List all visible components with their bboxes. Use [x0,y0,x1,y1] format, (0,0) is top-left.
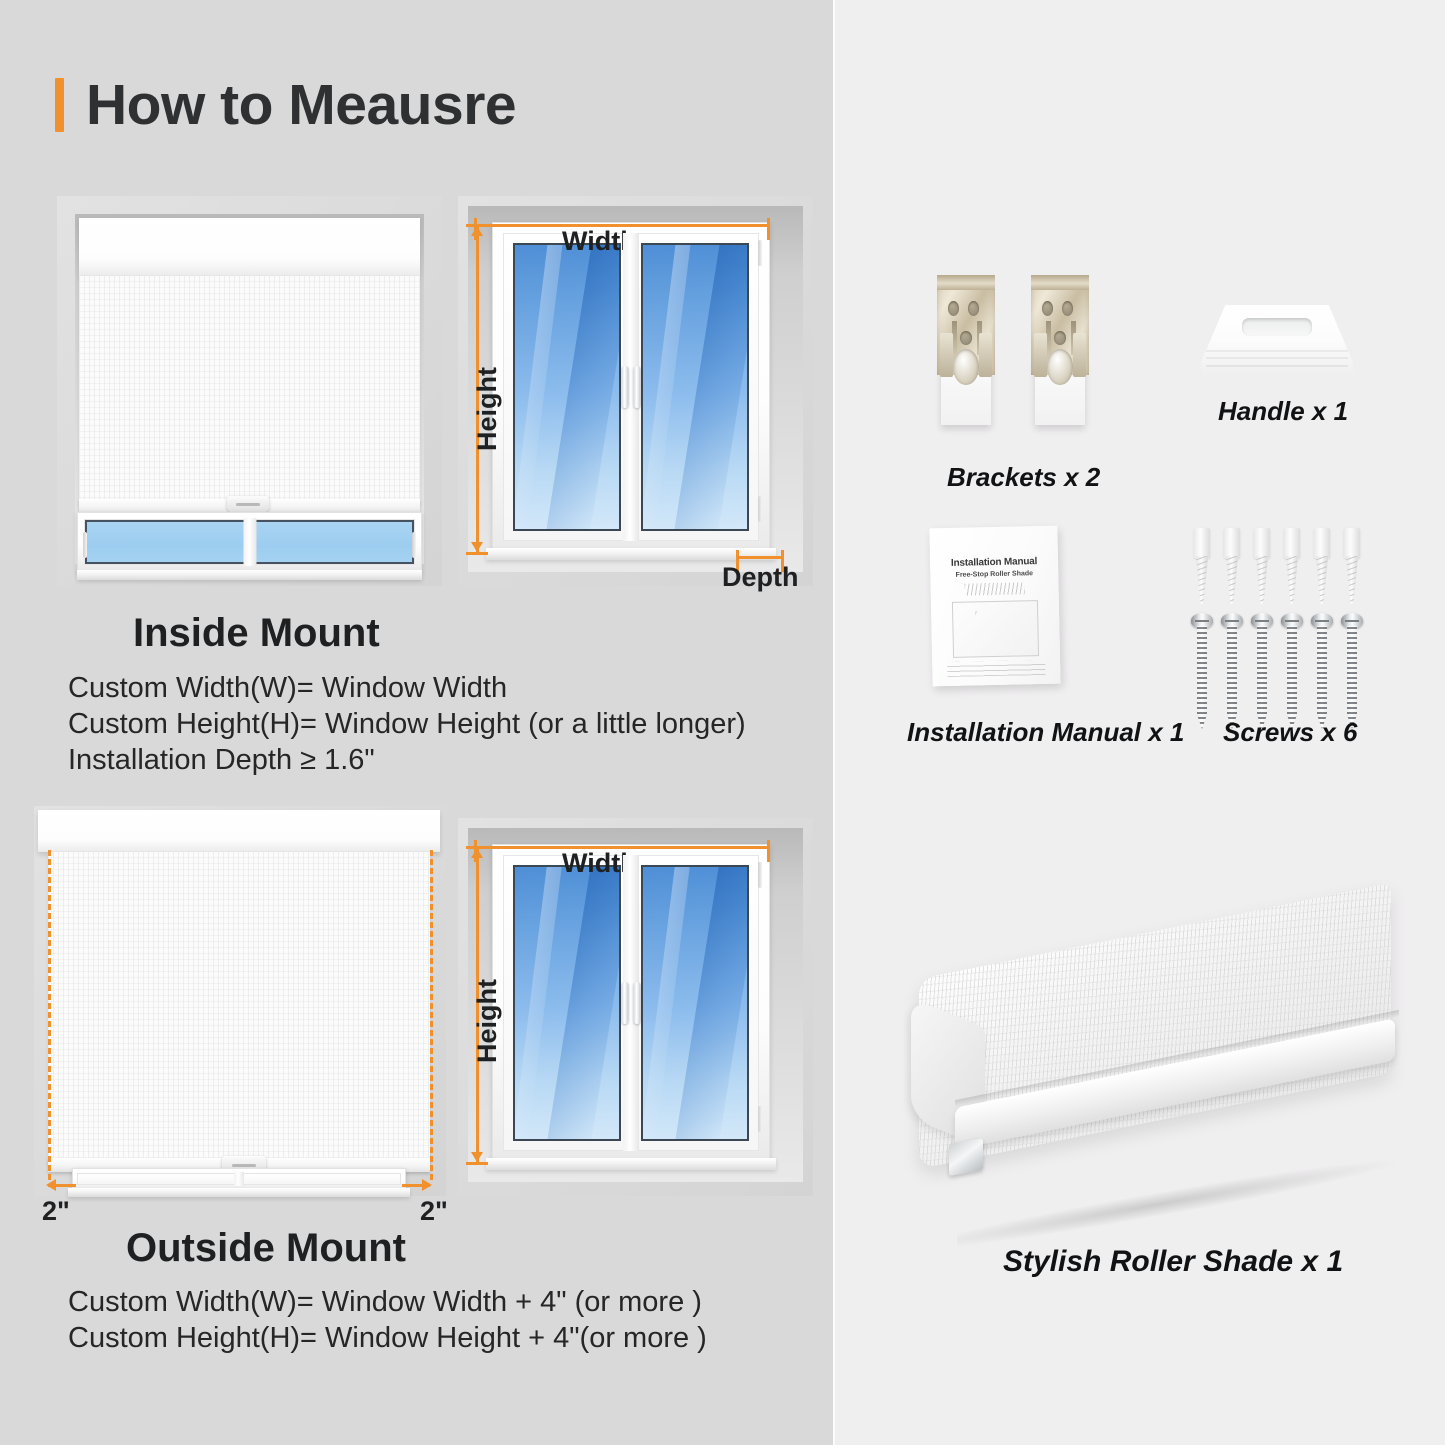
height-label: Height [472,367,503,451]
screw-icon [1314,613,1330,729]
how-to-measure-panel: How to Meausre [0,0,835,1445]
manual-cover-subtitle: Free-Stop Roller Shade [941,570,1047,579]
window-sash-left [77,1173,239,1185]
overhang-dash-left [48,850,51,1180]
width-measure-cap-right [767,840,770,862]
inside-mount-line-3: Installation Depth ≥ 1.6" [68,742,375,779]
handle-label: Handle x 1 [1218,396,1348,427]
height-arrow-down-icon [471,1152,483,1162]
accent-bar-icon [55,78,64,132]
window-hinge-right-icon [412,532,416,558]
height-measure-cap-bottom [466,552,488,555]
wall-anchor-icon [1193,528,1211,604]
screw-icon [1224,613,1240,729]
wall-anchor-icon [1313,528,1331,604]
overhang-arrow-right-icon [422,1179,432,1191]
shade-pull-handle [227,496,269,513]
window-sash-left [503,233,631,541]
manual-cover-diagram [951,600,1039,658]
how-to-measure-heading: How to Meausre [55,72,516,138]
window-handles-icon [622,982,641,1024]
depth-label: Depth [722,562,799,593]
window-frame-bottom [77,512,422,572]
window-glass-left [85,520,249,564]
window-sash-right [250,519,416,565]
overhang-dash-right [430,850,433,1180]
window-sash-right [239,1173,401,1185]
wall-anchor-icon [1253,528,1271,604]
manual-cover-scribble [965,582,1025,595]
package-contents-panel: What's in the package [835,0,1445,1445]
window-hinge-top-icon [758,862,762,888]
roller-shade-icon [897,895,1417,1225]
window-hinge-bottom-icon [758,1106,762,1132]
window-hinge-bottom-icon [758,496,762,522]
window-frame-bottom [72,1168,406,1190]
handle-icon [1201,305,1353,375]
overhang-label-right: 2" [420,1196,448,1227]
height-arrow-up-icon [471,848,483,858]
brackets-label: Brackets x 2 [947,462,1100,493]
width-measure-cap-right [767,218,770,240]
window-glass-right [251,520,415,564]
window-mullion [243,518,256,566]
depth-measure-line [736,556,784,559]
window-glass-right [641,243,749,531]
window-sill [486,548,776,560]
window-frame [492,844,770,1162]
bracket-icon [1031,275,1089,425]
window-handles-icon [622,366,641,408]
shade-fabric [48,852,430,1164]
window-glass-left [513,865,621,1141]
height-arrow-down-icon [471,542,483,552]
height-arrow-up-icon [471,226,483,236]
window-hinge-left-icon [83,532,87,558]
manual-cover-footer [948,660,1046,677]
manual-label: Installation Manual x 1 [907,717,1184,748]
overhang-arrow-left-icon [46,1179,56,1191]
inside-mount-line-1: Custom Width(W)= Window Width [68,670,507,707]
outside-mount-line-1: Custom Width(W)= Window Width + 4" (or m… [68,1284,702,1321]
window-mullion [234,1172,244,1186]
manual-icon: Installation Manual Free-Stop Roller Sha… [929,526,1060,687]
screws-label: Screws x 6 [1223,717,1357,748]
window-sash-right [631,855,759,1151]
window-glass-right [641,865,749,1141]
shade-cassette [38,810,440,852]
infographic-page: How to Meausre [0,0,1445,1445]
outside-mount-title: Outside Mount [126,1226,406,1271]
window-sash-left [503,855,631,1151]
inside-mount-measure-illustration: Width Height Depth [458,196,813,586]
window-sill [77,570,422,580]
manual-cover-title: Installation Manual [941,556,1047,569]
shade-fabric [79,276,420,504]
height-label: Height [472,979,503,1063]
inside-mount-title: Inside Mount [133,611,380,656]
screw-icon [1284,613,1300,729]
wall-anchor-icon [1223,528,1241,604]
window-sash-right [631,233,759,541]
screw-icon [1254,613,1270,729]
window-glass-left [513,243,621,531]
inside-mount-shade-illustration [57,196,442,586]
outside-mount-shade-illustration [34,806,446,1196]
height-measure-cap-bottom [466,1162,488,1165]
window-sash-left [84,519,250,565]
bracket-icon [937,275,995,425]
window-sill [486,1158,776,1170]
inside-mount-line-2: Custom Height(H)= Window Height (or a li… [68,706,746,743]
screw-icon [1194,613,1210,729]
screw-icon [1344,613,1360,729]
window-hinge-top-icon [758,240,762,266]
wall-anchor-icon [1283,528,1301,604]
outside-mount-measure-illustration: Width Height [458,818,813,1196]
window-sill [68,1188,410,1197]
overhang-label-left: 2" [42,1196,70,1227]
wall-anchor-icon [1343,528,1361,604]
outside-mount-line-2: Custom Height(H)= Window Height + 4"(or … [68,1320,707,1357]
how-to-measure-title: How to Meausre [86,72,516,138]
window-frame [492,222,770,552]
roller-shade-label: Stylish Roller Shade x 1 [1003,1245,1343,1279]
shade-cassette [79,218,420,276]
